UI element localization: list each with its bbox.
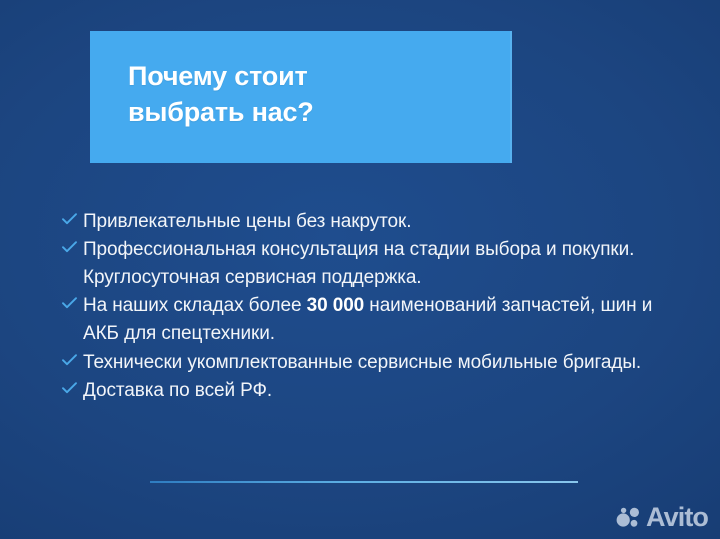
page-title: Почему стоит выбрать нас? [128, 59, 496, 131]
slide-canvas: Почему стоит выбрать нас? Привлекательны… [0, 0, 720, 539]
avito-logo-icon [616, 507, 642, 529]
list-item: Привлекательные цены без накруток. [62, 208, 662, 236]
list-item-label: Технически укомплектованные сервисные мо… [83, 349, 662, 377]
list-item: Профессиональная консультация на стадии … [62, 236, 662, 292]
decorative-divider [150, 481, 578, 483]
check-icon [62, 349, 83, 366]
check-icon [62, 236, 83, 253]
avito-watermark: Avito [616, 504, 708, 531]
list-item-label: Доставка по всей РФ. [83, 377, 662, 405]
benefits-list: Привлекательные цены без накруток. Профе… [62, 208, 662, 405]
check-icon [62, 208, 83, 225]
list-item-label: На наших складах более 30 000 наименован… [83, 292, 662, 348]
list-item: На наших складах более 30 000 наименован… [62, 292, 662, 348]
title-banner: Почему стоит выбрать нас? [90, 31, 512, 163]
check-icon [62, 292, 83, 309]
avito-wordmark: Avito [646, 504, 708, 531]
list-item: Доставка по всей РФ. [62, 377, 662, 405]
check-icon [62, 377, 83, 394]
list-item-label: Привлекательные цены без накруток. [83, 208, 662, 236]
list-item-label: Профессиональная консультация на стадии … [83, 236, 662, 292]
list-item: Технически укомплектованные сервисные мо… [62, 349, 662, 377]
